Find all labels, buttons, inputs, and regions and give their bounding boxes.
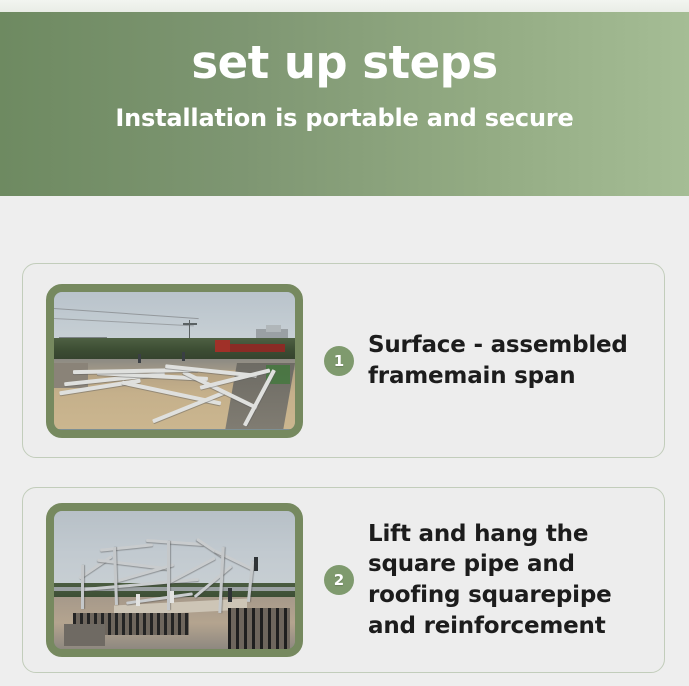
top-strip bbox=[0, 0, 689, 12]
step-body: 2 Lift and hang the square pipe and roof… bbox=[303, 519, 664, 641]
step-photo-frame bbox=[46, 284, 303, 438]
step-inner: 2 Lift and hang the square pipe and roof… bbox=[23, 488, 664, 672]
step-photo-frame bbox=[46, 503, 303, 657]
step-inner: 1 Surface - assembled framemain span bbox=[23, 264, 664, 457]
step-body: 1 Surface - assembled framemain span bbox=[303, 330, 664, 391]
step-description: Lift and hang the square pipe and roofin… bbox=[354, 519, 664, 641]
step-card: 2 Lift and hang the square pipe and roof… bbox=[22, 487, 665, 673]
page-header: set up steps Installation is portable an… bbox=[0, 12, 689, 196]
step-card: 1 Surface - assembled framemain span bbox=[22, 263, 665, 458]
step-photo-image bbox=[54, 511, 295, 649]
step-number-badge: 1 bbox=[324, 346, 354, 376]
steps-area: 1 Surface - assembled framemain span bbox=[0, 196, 689, 686]
step-photo-image bbox=[54, 292, 295, 430]
step-number-badge: 2 bbox=[324, 565, 354, 595]
step-description: Surface - assembled framemain span bbox=[354, 330, 658, 391]
page-subtitle: Installation is portable and secure bbox=[0, 88, 689, 133]
page-title: set up steps bbox=[0, 12, 689, 88]
